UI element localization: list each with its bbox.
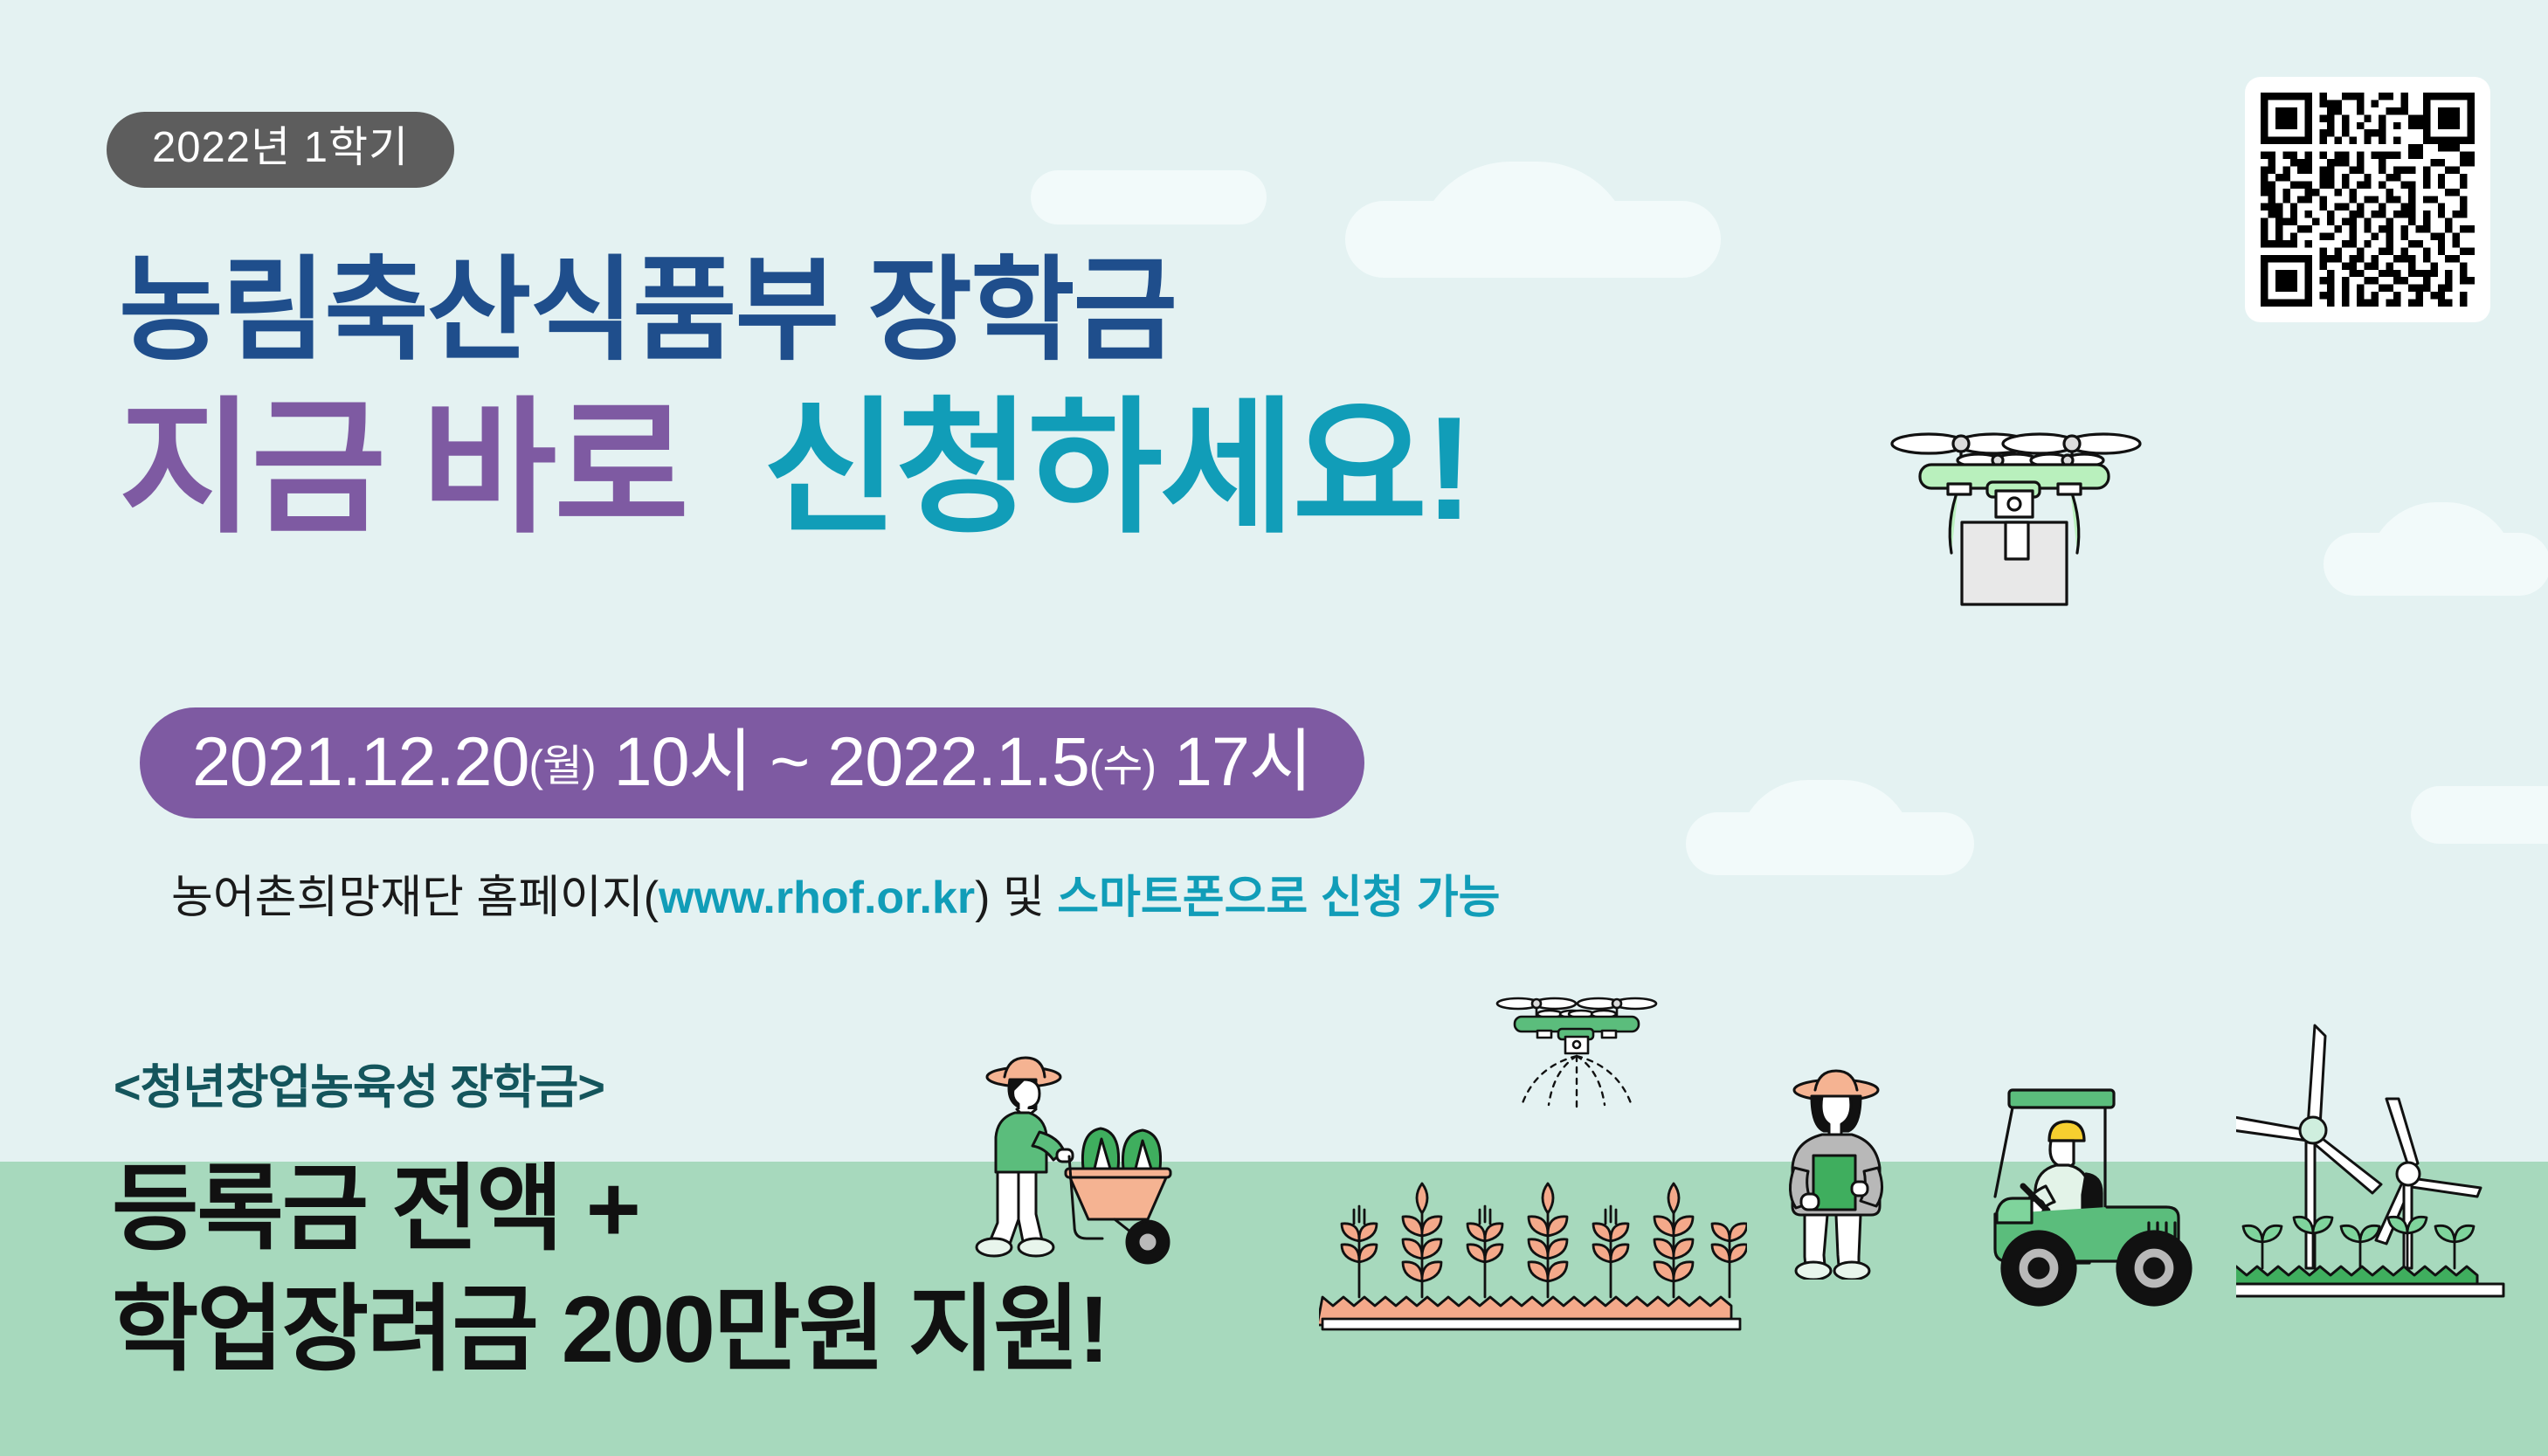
person-with-tablet-graphic [1782,1061,1913,1280]
spraying-drone [1494,991,1660,1122]
benefit-line-2: 학업장려금 200만원 지원! [112,1282,1108,1377]
apply-note-prefix: 농어촌희망재단 홈페이지( [171,873,659,923]
cloud-7 [1738,780,1913,850]
scholarship-subtitle: <청년창업농육성 장학금> [114,1064,604,1111]
period-end-time: 17시 [1174,722,1312,800]
semester-badge: 2022년 1학기 [107,112,454,188]
headline-cta-teal: 신청하세요! [763,386,1471,550]
wheat-field [1319,1166,1747,1332]
period-start-time: 10시 [614,722,752,800]
cloud-1 [1031,170,1267,224]
period-end-date: 2022.1.5 [827,722,1089,800]
application-period-pill: 2021.12.20(월) 10시 ~ 2022.1.5(수) 17시 [140,707,1364,818]
delivery-drone-graphic [1878,419,2149,620]
farmer-with-wheelbarrow [952,1048,1188,1275]
apply-note-middle: ) 및 [975,873,1057,923]
period-separator: ~ [770,722,809,800]
promotional-banner: 2022년 1학기 농림축산식품부 장학금 지금 바로 신청하세요! 2021.… [0,0,2548,1456]
apply-note-emphasis: 스마트폰으로 신청 가능 [1057,873,1500,923]
page-title: 농림축산식품부 장학금 [119,253,1176,367]
tractor-with-driver [1983,1083,2271,1310]
tractor-with-driver-graphic [1983,1083,2271,1310]
period-end-day: (수) [1089,742,1156,790]
headline-cta: 지금 바로 신청하세요! [119,395,1471,542]
apply-note: 농어촌희망재단 홈페이지(www.rhof.or.kr) 및 스마트폰으로 신청… [171,875,1501,921]
person-with-tablet [1782,1061,1913,1280]
wheat-field-graphic [1319,1166,1747,1332]
qr-code[interactable] [2245,77,2490,322]
spraying-drone-graphic [1494,991,1660,1122]
farmer-with-wheelbarrow-graphic [952,1048,1188,1275]
delivery-drone [1878,419,2149,620]
cloud-3 [1415,162,1633,258]
qr-code-graphic [2261,93,2475,307]
website-link[interactable]: www.rhof.or.kr [659,873,975,923]
period-start-date: 2021.12.20 [192,722,528,800]
cloud-5 [2367,502,2516,572]
cloud-8 [2411,786,2548,844]
benefit-line-1: 등록금 전액 + [112,1162,639,1256]
period-start-day: (월) [528,742,595,790]
headline-cta-purple: 지금 바로 [119,386,687,550]
wind-turbines-graphic [2236,1022,2548,1310]
wind-turbines [2236,1022,2548,1310]
